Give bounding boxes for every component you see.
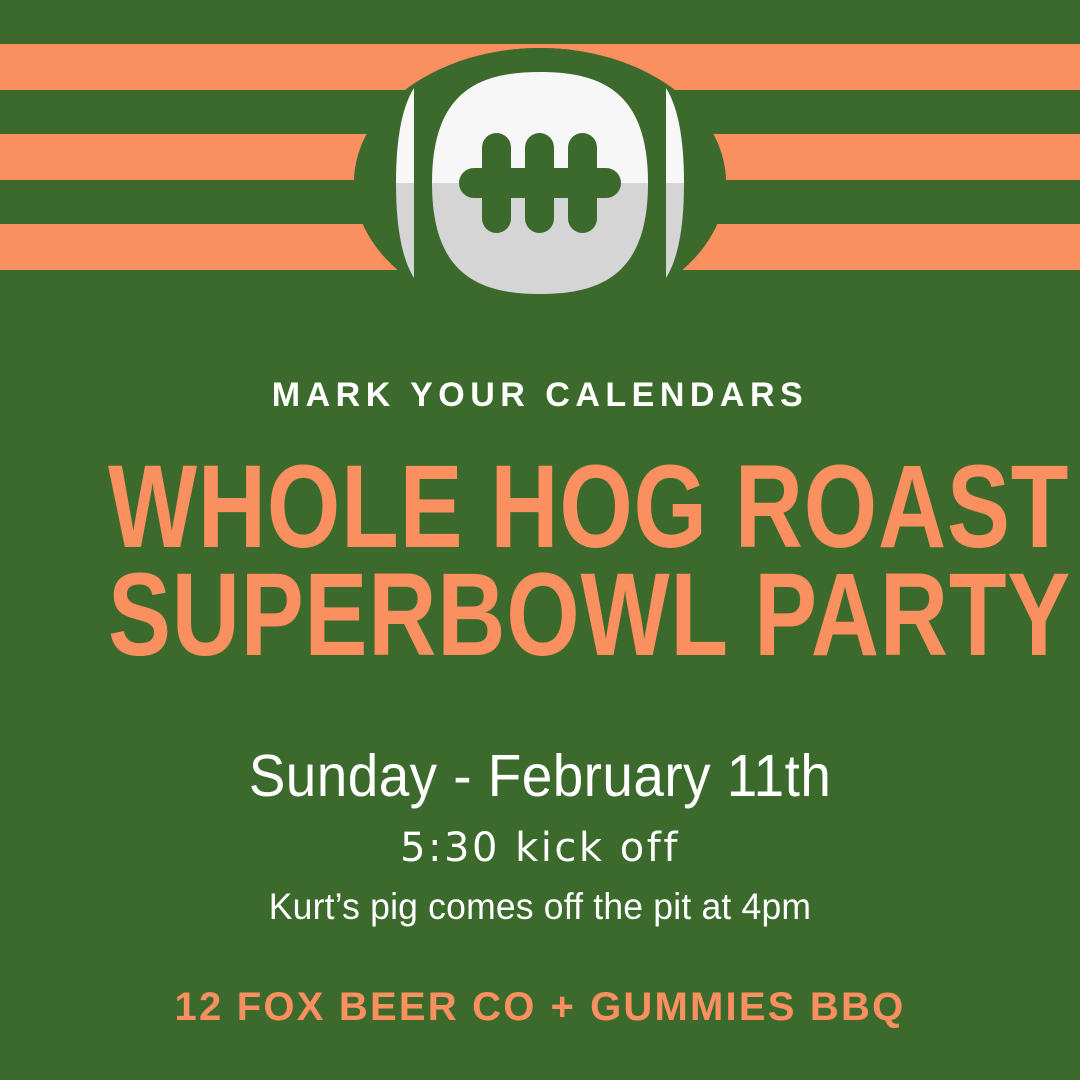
football-banner-svg: [0, 0, 1080, 320]
sponsor-separator: +: [537, 985, 591, 1029]
eyebrow-text: MARK YOUR CALENDARS: [0, 320, 1080, 412]
banner-graphic: [0, 0, 1080, 320]
sponsor-left: 12 FOX BEER CO: [175, 985, 537, 1029]
content-block: MARK YOUR CALENDARS WHOLE HOG ROAST SUPE…: [0, 320, 1080, 1080]
page-title: WHOLE HOG ROAST SUPERBOWL PARTY: [0, 450, 1080, 673]
headline-line-1: WHOLE HOG ROAST: [108, 450, 972, 564]
sponsor-right: GUMMIES BBQ: [590, 985, 905, 1029]
poster-canvas: MARK YOUR CALENDARS WHOLE HOG ROAST SUPE…: [0, 0, 1080, 1080]
sponsor-line: 12 FOX BEER CO+GUMMIES BBQ: [0, 925, 1080, 1027]
event-detail: Kurt’s pig comes off the pit at 4pm: [22, 868, 1059, 925]
football-laces: [459, 133, 621, 233]
lace-2: [525, 133, 554, 233]
lace-1: [482, 133, 511, 233]
event-date: Sunday - February 11th: [38, 673, 1042, 806]
headline-line-2: SUPERBOWL PARTY: [108, 558, 972, 672]
event-kickoff-time: 5:30 kick off: [0, 806, 1080, 868]
lace-3: [568, 133, 597, 233]
football-icon: [354, 48, 726, 318]
